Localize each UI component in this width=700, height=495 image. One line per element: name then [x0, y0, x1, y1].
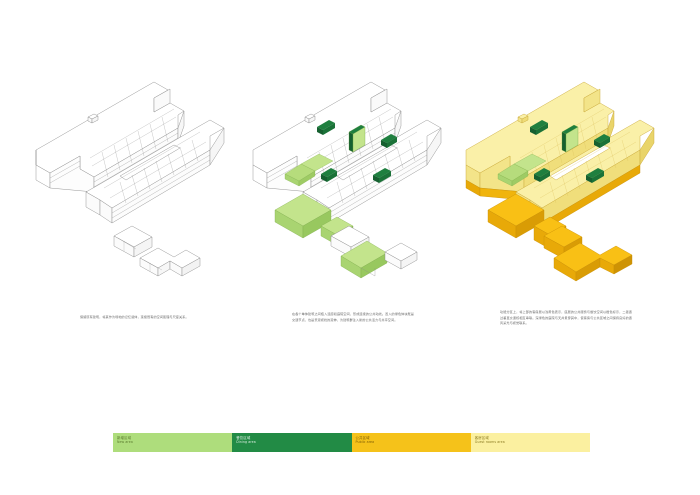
diagram-programme-zoning [458, 70, 668, 295]
legend-label-en: Guest rooms area [475, 440, 505, 444]
programme-colour-legend: 新增区域 New area 餐饮区域 Dining area 公共区域 Publ… [113, 433, 590, 452]
diagram-inserted-public-volumes [245, 70, 455, 295]
caption-diagram-2: 在各个单体建筑之间植入连廊和庭院空间，形成连续的公共动线。置入的绿色体块既是交通… [292, 312, 414, 323]
caption-diagram-1: 保留原有建筑，将其作为场地的记忆载体，延续既有的空间肌理与尺度关系。 [80, 315, 198, 321]
legend-item-new-area[interactable]: 新增区域 New area [113, 433, 232, 452]
legend-item-public-area[interactable]: 公共区域 Public area [352, 433, 471, 452]
legend-item-guest-rooms-area[interactable]: 客房区域 Guest rooms area [471, 433, 590, 452]
caption-diagram-3: 功能分区上，将上部的客房层以浅黄色表示，底层的公共服务与餐饮空间以橙色标示，二者… [500, 310, 632, 327]
legend-label-en: New area [117, 440, 133, 444]
presentation-board: 保留原有建筑，将其作为场地的记忆载体，延续既有的空间肌理与尺度关系。 在各个单体… [0, 0, 700, 495]
legend-label-en: Public area [356, 440, 375, 444]
legend-item-dining-area[interactable]: 餐饮区域 Dining area [232, 433, 351, 452]
legend-label-en: Dining area [236, 440, 256, 444]
diagram-existing-massing [28, 70, 238, 295]
